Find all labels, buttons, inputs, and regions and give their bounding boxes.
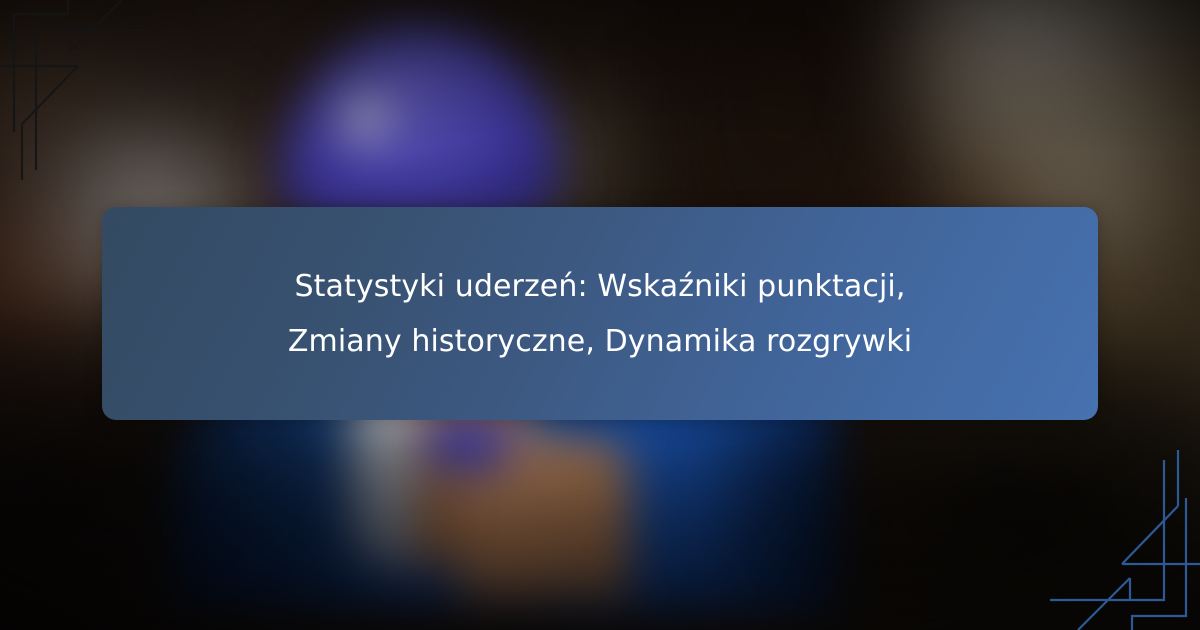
title-line-2: Zmiany historyczne, Dynamika rozgrywki [142, 314, 1058, 369]
title-card: Statystyki uderzeń: Wskaźniki punktacji,… [102, 207, 1098, 420]
page-title: Statystyki uderzeń: Wskaźniki punktacji,… [102, 259, 1098, 369]
title-line-1: Statystyki uderzeń: Wskaźniki punktacji, [142, 259, 1058, 314]
og-banner: Statystyki uderzeń: Wskaźniki punktacji,… [0, 0, 1200, 630]
